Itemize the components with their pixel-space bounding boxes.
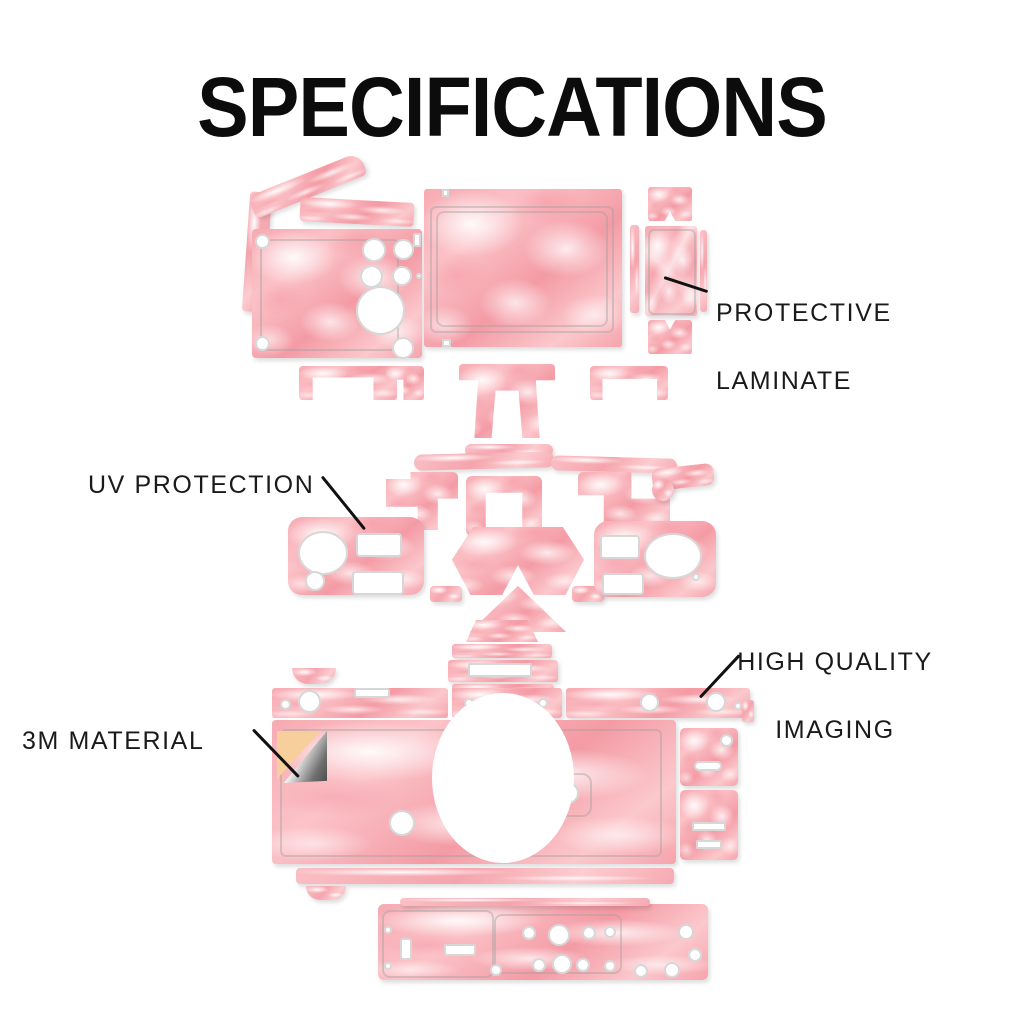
skin-piece-right-top-tab [648, 187, 692, 221]
skin-piece-rear-screen-panel [424, 189, 622, 347]
cutout-grip-left-big [298, 531, 348, 575]
callout-3m-material-line1: 3M MATERIAL [22, 724, 204, 758]
cutout-door-vent-2 [696, 840, 722, 849]
cutout-base-hole-15 [688, 948, 702, 962]
skin-piece-centre-tab-left [430, 586, 462, 602]
cutout-grip-right-big [644, 533, 702, 579]
skin-piece-hump-band-2 [448, 660, 558, 682]
cutout-lens-ring [356, 286, 405, 335]
cutout-rail-hole-5 [640, 693, 659, 712]
cutout-button-d [392, 266, 412, 286]
callout-high-quality-imaging-line1: HIGH QUALITY [724, 645, 946, 679]
skin-piece-baseplate [378, 904, 708, 980]
cutout-lens-barrel [432, 693, 574, 863]
cutout-door-latch [694, 761, 722, 771]
callout-high-quality-imaging: HIGH QUALITY IMAGING [724, 611, 946, 781]
cutout-base-hole-4 [548, 924, 570, 946]
skin-piece-body-bottom-ear [306, 886, 346, 900]
cutout-door-vent-1 [692, 822, 726, 831]
cutout-base-battery-slot [400, 938, 412, 960]
cutout-button-e [392, 337, 414, 359]
skin-piece-top-rail-right [566, 688, 750, 718]
cutout-base-hole-3 [522, 926, 536, 940]
cutout-base-hole-7 [532, 958, 546, 972]
cutout-grip-left-small [305, 571, 325, 591]
cutout-hump-slot [468, 663, 532, 677]
cutout-bottom-notch [442, 339, 451, 347]
cutout-base-hole-6 [604, 926, 616, 938]
skin-piece-baseplate-top-lip [400, 898, 650, 906]
cutout-top-notch [442, 189, 449, 197]
skin-piece-hump-band-1 [452, 644, 552, 658]
cutout-base-hole-10 [604, 960, 616, 972]
callout-protective-laminate-line1: PROTECTIVE [716, 296, 892, 330]
cutout-base-hole-8 [552, 954, 572, 974]
rear-screen-inset-inner [436, 211, 608, 327]
skin-piece-right-bottom-tab [648, 320, 692, 354]
skin-piece-top-rail-left [272, 688, 448, 718]
cutout-button-b [393, 239, 414, 260]
cutout-base-hole-2 [384, 962, 392, 970]
cutout-base-hole-9 [576, 958, 590, 972]
callout-uv-protection: UV PROTECTION [88, 434, 314, 536]
laminate-gloss-sheen [645, 226, 697, 316]
skin-piece-grip-right-knob [652, 479, 674, 501]
cutout-grip-right-notch [600, 535, 640, 559]
cutout-rail-hole-1 [280, 699, 291, 710]
callout-uv-protection-line1: UV PROTECTION [88, 468, 314, 502]
skin-piece-grip-right-main [594, 521, 716, 597]
skin-piece-bracket-right [590, 366, 668, 400]
callout-protective-laminate: PROTECTIVE LAMINATE [716, 262, 892, 432]
cutout-rail-hole-6 [706, 692, 726, 712]
callout-protective-laminate-line2: LAMINATE [716, 364, 892, 398]
cutout-grip-left-notch-b [352, 571, 404, 595]
cutout-grip-left-notch [356, 533, 402, 557]
cutout-base-hole-13 [664, 962, 680, 978]
skin-piece-bracket-left [299, 366, 397, 400]
cutout-rail-slot [354, 688, 390, 698]
skin-piece-protective-laminate-panel [645, 226, 697, 316]
skin-piece-mid-top-bar [414, 451, 554, 470]
skin-piece-top-left-arc-2 [299, 197, 414, 227]
cutout-base-hole-12 [634, 964, 648, 978]
cutout-grip-right-notch-b [602, 573, 644, 595]
skin-piece-right-door-lower [680, 790, 738, 860]
skin-piece-front-plate [252, 229, 422, 358]
laminate-panel-inset [648, 229, 696, 315]
cutout-slot-top [413, 233, 421, 247]
cutout-base-hole-14 [678, 924, 694, 940]
cutout-screw-tl [255, 234, 270, 249]
cutout-base-hole-5 [582, 926, 596, 940]
skin-piece-bracket-centre [459, 364, 555, 438]
skin-piece-right-outer-sliver [700, 230, 707, 312]
cutout-base-hole-1 [384, 926, 392, 934]
cutout-base-tripod-slot [444, 944, 476, 956]
skin-piece-centre-body [452, 527, 584, 595]
skin-piece-hinge-strip [630, 225, 639, 313]
cutout-body-button [389, 810, 415, 836]
rear-screen-inset-outer [430, 206, 614, 333]
skin-piece-body-bottom-strip [296, 868, 674, 884]
callout-high-quality-imaging-line2: IMAGING [724, 713, 946, 747]
cutout-screw-bl [255, 336, 270, 351]
cutout-pin [416, 273, 422, 279]
cutout-button-c [360, 265, 383, 288]
callout-3m-material: 3M MATERIAL [22, 690, 204, 792]
specifications-infographic: SPECIFICATIONS [0, 0, 1024, 1024]
skin-piece-hump-top [466, 620, 538, 642]
baseplate-inset-left [382, 910, 494, 978]
cutout-base-hole-11 [490, 964, 502, 976]
skin-piece-rail-ear-left [292, 668, 336, 684]
cutout-grip-right-small [692, 573, 700, 581]
cutout-rail-hole-2 [298, 690, 321, 713]
cutout-button-a [362, 238, 386, 262]
